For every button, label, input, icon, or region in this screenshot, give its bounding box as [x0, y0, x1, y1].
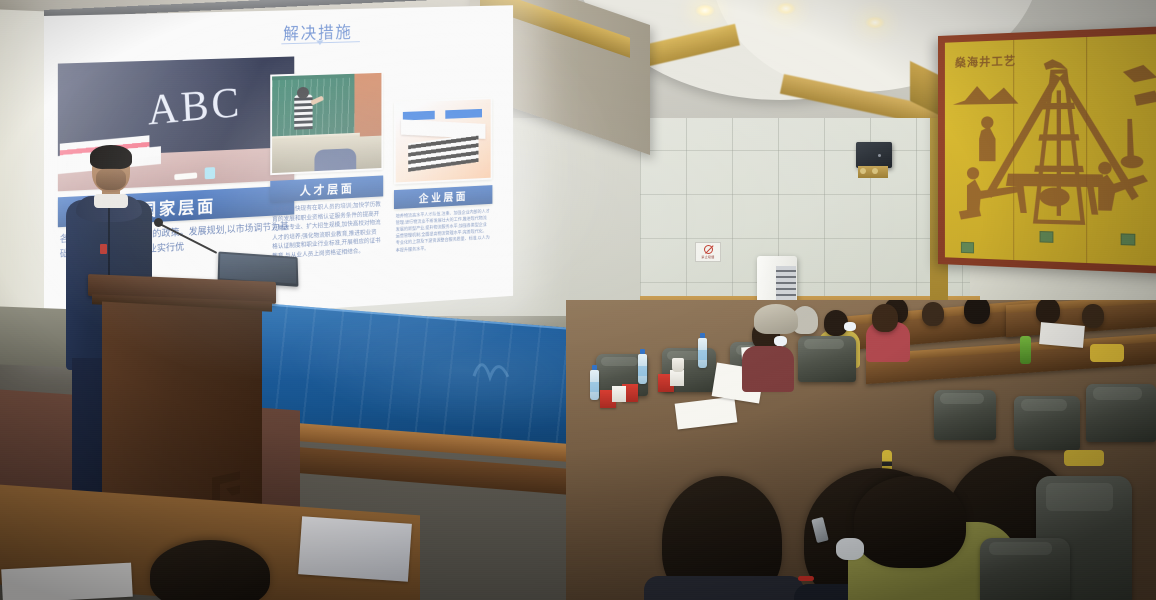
audience-head: [1082, 304, 1104, 328]
no-smoking-sign: 禁止吸烟: [695, 242, 721, 262]
water-bottle: [698, 338, 707, 368]
foreground-student-head: [854, 476, 966, 568]
placard-holder: [612, 386, 626, 402]
slide-body-enterprise: 培养物流高水平人才队伍,注重、加强企业内部的人才管理;进行物流业不断发展壮大的工…: [396, 208, 491, 254]
microphone-icon: [154, 218, 163, 227]
snack-bag: [1064, 450, 1104, 466]
face-mask: [836, 538, 864, 560]
mural-plate: [1121, 233, 1136, 245]
slide-image-teacher-chalkboard: [270, 71, 383, 175]
audience-seat: [798, 336, 856, 382]
audience-seat: [1014, 396, 1080, 450]
audience-torso: [742, 346, 794, 392]
speaker-knob: [872, 168, 878, 174]
snack-bag: [1090, 344, 1124, 362]
document-paper: [1, 563, 133, 600]
ceiling-downlight: [776, 2, 796, 15]
audience-seat: [980, 538, 1070, 600]
placard-holder: [670, 370, 684, 386]
water-bottle: [590, 370, 599, 400]
red-bracelet: [798, 576, 814, 581]
audience-seat: [934, 390, 996, 440]
water-bottle: [638, 354, 647, 384]
lecture-hall-scene: 禁止吸烟 燊海井工艺: [0, 0, 1156, 600]
no-smoking-icon: [704, 245, 713, 254]
mural-plate: [1040, 231, 1054, 243]
face-mask: [844, 322, 856, 331]
presenter-badge: [100, 244, 107, 254]
ceiling-downlight: [865, 16, 885, 29]
slide-image-abc-text: ABC: [146, 77, 243, 135]
audience-head: [922, 302, 944, 326]
drape-watermark-icon: [468, 348, 514, 386]
slide-band-talent: 人才层面: [270, 175, 383, 202]
audience-head: [964, 300, 990, 324]
speaker-knob: [860, 168, 866, 174]
audience-head: [1036, 300, 1060, 324]
slide-body-talent: 企业应加快现有在职人员的培训;加快学历教育的发展和职业资格认证服务条件的提高开设…: [272, 200, 381, 261]
knit-hat: [754, 304, 798, 334]
podium: [88, 278, 276, 526]
paper-cup: [672, 358, 684, 372]
wall-mural: 燊海井工艺: [938, 26, 1156, 274]
face-mask: [774, 336, 787, 346]
no-smoking-label: 禁止吸烟: [701, 255, 714, 259]
speaker-icon: [856, 142, 892, 168]
audience-area: [566, 300, 1156, 600]
green-bottle: [1020, 336, 1031, 364]
mural-plate: [961, 242, 974, 254]
document-paper: [298, 516, 412, 582]
audience-seat: [1086, 384, 1156, 442]
document-paper: [1039, 322, 1085, 348]
slide-image-books: [394, 97, 492, 184]
ceiling-downlight: [695, 4, 715, 17]
audience-head: [872, 304, 898, 332]
slide-band-enterprise: 企业层面: [394, 185, 492, 209]
mural-panel: 燊海井工艺: [945, 34, 1156, 266]
speaker-led: [878, 154, 881, 157]
